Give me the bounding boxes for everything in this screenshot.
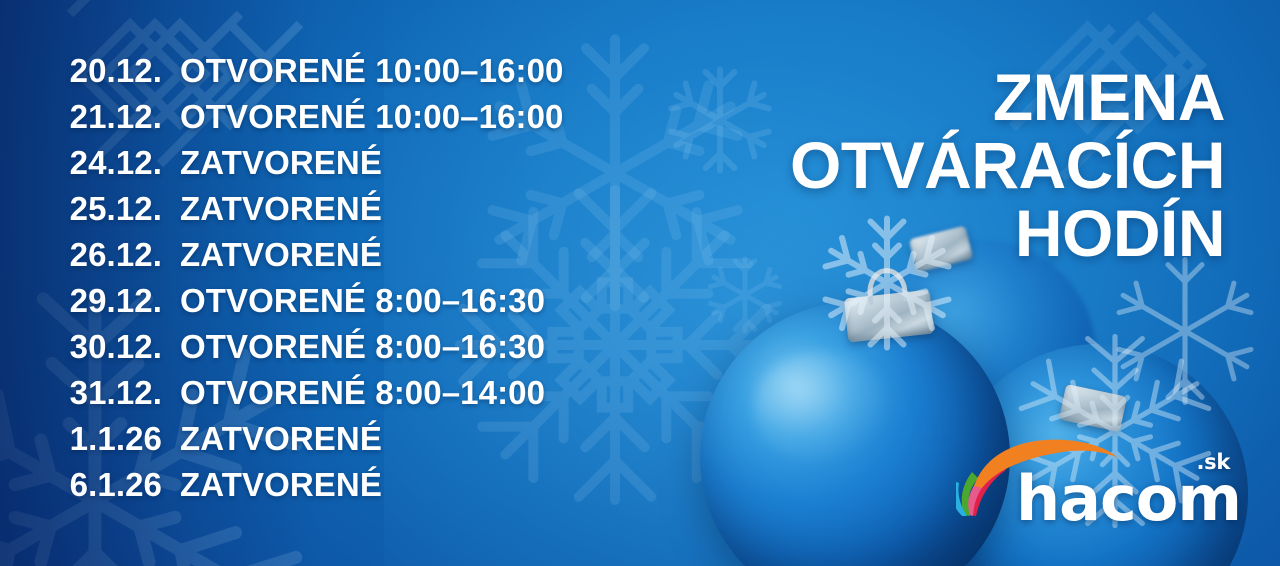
schedule-row: 24.12. ZATVORENÉ xyxy=(0,144,660,190)
schedule-row: 20.12. OTVORENÉ 10:00–16:00 xyxy=(0,52,660,98)
headline-line-1: ZMENA xyxy=(685,64,1225,132)
schedule-row: 30.12. OTVORENÉ 8:00–16:30 xyxy=(0,328,660,374)
schedule-date: 24.12. xyxy=(0,144,180,182)
schedule-status: ZATVORENÉ xyxy=(180,190,660,228)
snowflake-decal-icon xyxy=(1100,246,1270,416)
schedule-date: 31.12. xyxy=(0,374,180,412)
schedule-status: ZATVORENÉ xyxy=(180,236,660,274)
schedule-date: 26.12. xyxy=(0,236,180,274)
logo-tld: .sk xyxy=(1196,450,1230,474)
hacom-logo[interactable]: hacom .sk xyxy=(956,432,1228,528)
schedule-status: OTVORENÉ 10:00–16:00 xyxy=(180,98,660,136)
logo-wordmark: hacom xyxy=(1016,468,1241,530)
schedule-row: 31.12. OTVORENÉ 8:00–14:00 xyxy=(0,374,660,420)
schedule-status: ZATVORENÉ xyxy=(180,144,660,182)
schedule-status: OTVORENÉ 8:00–16:30 xyxy=(180,328,660,366)
schedule-row: 25.12. ZATVORENÉ xyxy=(0,190,660,236)
bauble-cap-main xyxy=(844,290,934,343)
schedule-date: 1.1.26 xyxy=(0,420,180,458)
headline-line-2: OTVÁRACÍCH xyxy=(685,132,1225,200)
schedule-status: ZATVORENÉ xyxy=(180,420,660,458)
schedule-status: OTVORENÉ 8:00–16:30 xyxy=(180,282,660,320)
schedule-date: 21.12. xyxy=(0,98,180,136)
bauble-cap-right xyxy=(1059,384,1127,432)
schedule-row: 26.12. ZATVORENÉ xyxy=(0,236,660,282)
opening-hours-list: 20.12. OTVORENÉ 10:00–16:00 21.12. OTVOR… xyxy=(0,52,660,512)
schedule-status: ZATVORENÉ xyxy=(180,466,660,504)
schedule-date: 25.12. xyxy=(0,190,180,228)
schedule-status: OTVORENÉ 10:00–16:00 xyxy=(180,52,660,90)
schedule-row: 6.1.26 ZATVORENÉ xyxy=(0,466,660,512)
schedule-date: 20.12. xyxy=(0,52,180,90)
schedule-status: OTVORENÉ 8:00–14:00 xyxy=(180,374,660,412)
schedule-row: 21.12. OTVORENÉ 10:00–16:00 xyxy=(0,98,660,144)
opening-hours-banner: 20.12. OTVORENÉ 10:00–16:00 21.12. OTVOR… xyxy=(0,0,1280,566)
schedule-row: 29.12. OTVORENÉ 8:00–16:30 xyxy=(0,282,660,328)
schedule-row: 1.1.26 ZATVORENÉ xyxy=(0,420,660,466)
schedule-date: 29.12. xyxy=(0,282,180,320)
headline: ZMENA OTVÁRACÍCH HODÍN xyxy=(685,64,1225,268)
headline-line-3: HODÍN xyxy=(685,200,1225,268)
schedule-date: 6.1.26 xyxy=(0,466,180,504)
schedule-date: 30.12. xyxy=(0,328,180,366)
